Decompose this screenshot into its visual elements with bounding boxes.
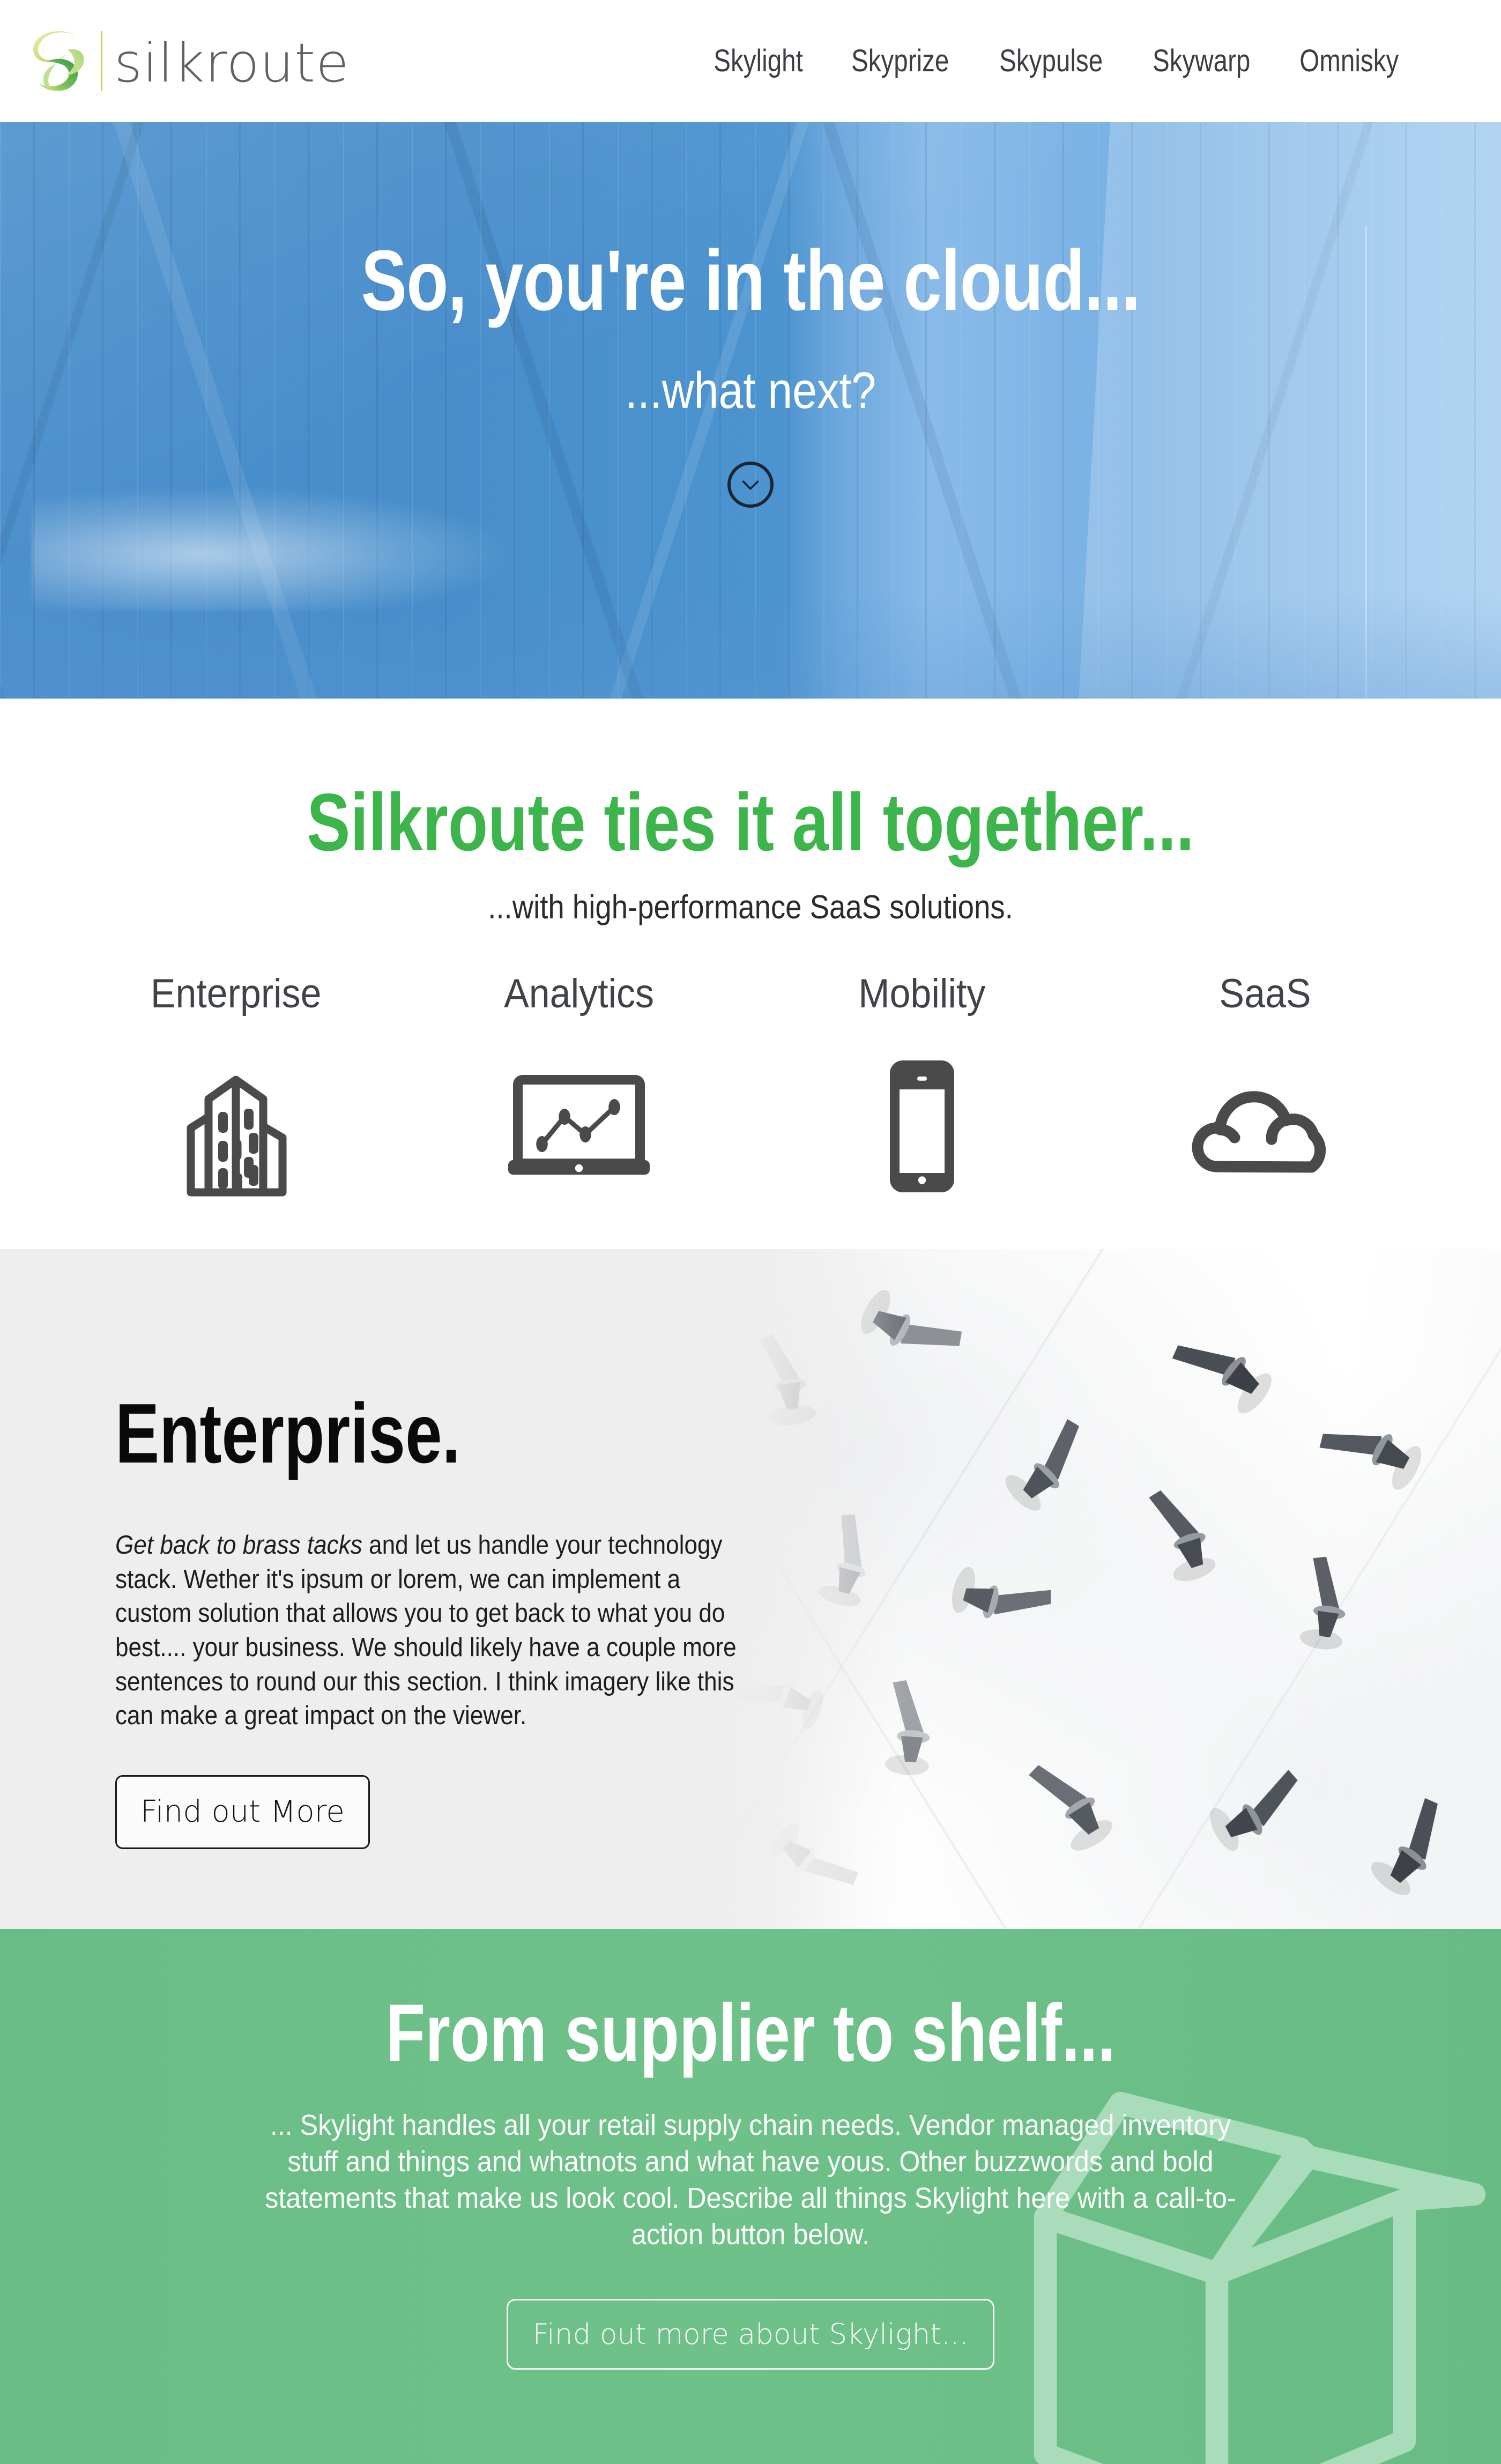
- enterprise-title: Enterprise.: [115, 1391, 611, 1476]
- main-nav: Skylight Skyprize Skypulse Skywarp Omnis…: [704, 46, 1410, 77]
- office-buildings-icon: [147, 1044, 324, 1205]
- landing-page: silkroute Skylight Skyprize Skypulse Sky…: [0, 0, 1501, 2464]
- feature-label: Analytics: [504, 974, 654, 1014]
- feature-label: SaaS: [1219, 974, 1311, 1014]
- hero-subtitle: ...what next?: [625, 365, 876, 417]
- skylight-body: ... Skylight handles all your retail sup…: [244, 2107, 1257, 2253]
- enterprise-find-out-more-button[interactable]: Find out More: [115, 1775, 370, 1849]
- laptop-line-chart-icon: [491, 1044, 667, 1205]
- brass-tacks-image: [713, 1249, 1501, 1929]
- feature-analytics[interactable]: Analytics: [429, 974, 729, 1205]
- nav-item-omnisky[interactable]: Omnisky: [1300, 46, 1399, 77]
- intro-subtitle: ...with high-performance SaaS solutions.: [90, 891, 1411, 924]
- silkroute-s-swirl-logo-icon: [27, 26, 96, 96]
- enterprise-body: Get back to brass tacks and let us handl…: [115, 1528, 742, 1733]
- feature-enterprise[interactable]: Enterprise: [86, 974, 386, 1205]
- hero-title: So, you're in the cloud...: [361, 238, 1140, 323]
- nav-item-skywarp[interactable]: Skywarp: [1153, 46, 1250, 77]
- enterprise-body-rest: and let us handle your technology stack.…: [115, 1531, 737, 1730]
- brand-divider: [101, 31, 102, 91]
- chevron-down-icon: [738, 472, 763, 497]
- brand-name: silkroute: [114, 36, 350, 90]
- intro-section: Silkroute ties it all together... ...wit…: [0, 699, 1501, 1249]
- skylight-title: From supplier to shelf...: [385, 1992, 1115, 2074]
- enterprise-section: Enterprise. Get back to brass tacks and …: [0, 1249, 1501, 1929]
- skylight-section: From supplier to shelf... ... Skylight h…: [0, 1929, 1501, 2464]
- scroll-down-button[interactable]: [727, 462, 774, 508]
- feature-list: Enterprise: [0, 974, 1501, 1205]
- nav-item-skylight[interactable]: Skylight: [714, 46, 803, 77]
- enterprise-body-lead: Get back to brass tacks: [115, 1531, 362, 1560]
- skylight-cta-button[interactable]: Find out more about Skylight...: [507, 2299, 995, 2370]
- cloud-icon: [1177, 1044, 1354, 1205]
- enterprise-content: Enterprise. Get back to brass tacks and …: [0, 1249, 750, 1929]
- intro-title: Silkroute ties it all together...: [150, 782, 1351, 863]
- feature-label: Mobility: [858, 974, 985, 1014]
- feature-label: Enterprise: [151, 974, 322, 1014]
- brand-logo[interactable]: silkroute: [27, 26, 350, 96]
- smartphone-icon: [834, 1044, 1010, 1205]
- nav-item-skypulse[interactable]: Skypulse: [999, 46, 1103, 77]
- nav-item-skyprize[interactable]: Skyprize: [851, 46, 949, 77]
- site-header: silkroute Skylight Skyprize Skypulse Sky…: [0, 0, 1501, 122]
- feature-mobility[interactable]: Mobility: [772, 974, 1072, 1205]
- hero-section: So, you're in the cloud... ...what next?: [0, 122, 1501, 699]
- feature-saas[interactable]: SaaS: [1115, 974, 1415, 1205]
